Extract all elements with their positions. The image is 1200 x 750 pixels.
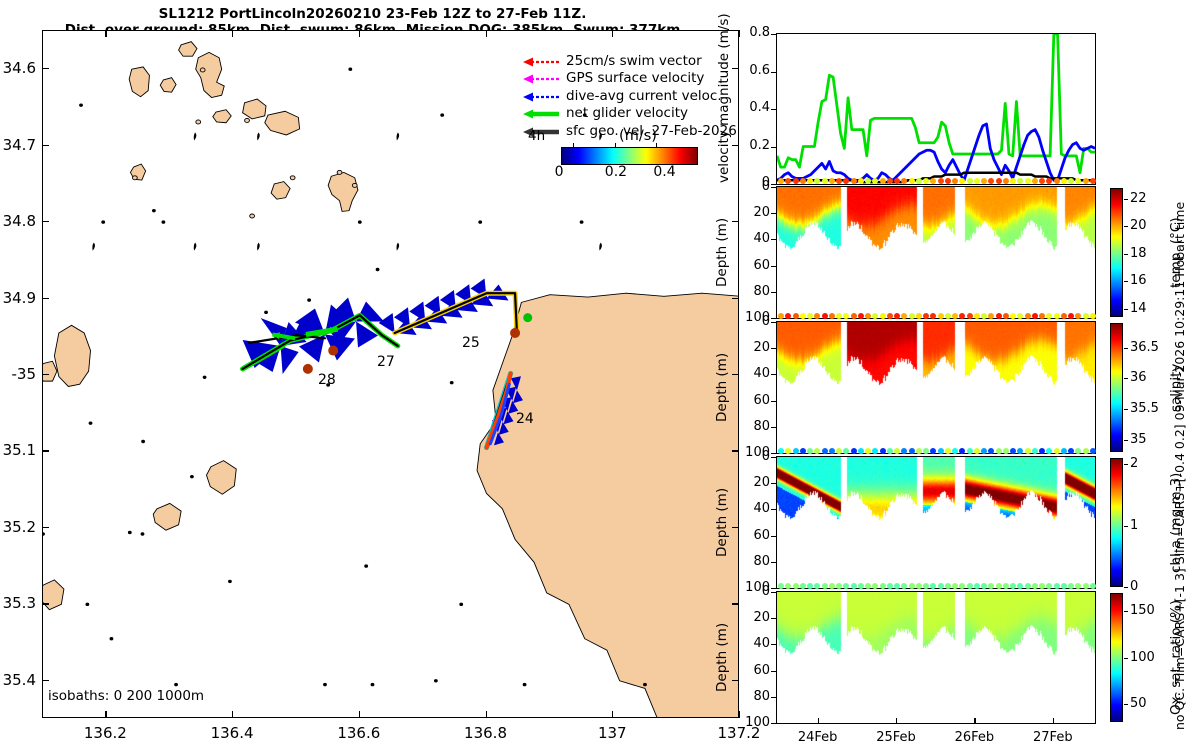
map-xtick-label: 136.2 (65, 724, 145, 742)
surface-dot (1003, 448, 1009, 454)
surface-dot (800, 448, 806, 454)
chlorophyll-section-colorbar-title: chl-a (mg m-3) (1168, 458, 1184, 587)
chlorophyll-section-ytick-label: 80 (738, 554, 770, 569)
time-axis-tick (1053, 718, 1054, 724)
surface-dot (1075, 448, 1081, 454)
oxygen-saturation-section-ytick (771, 723, 776, 724)
surface-dot (959, 178, 965, 184)
chlorophyll-section-ytick-label: 60 (738, 528, 770, 543)
surface-dot (967, 583, 973, 589)
surface-dot (909, 313, 915, 319)
surface-dot (851, 448, 857, 454)
surface-dot (1010, 448, 1016, 454)
map-ytick-label: 34.6 (0, 59, 36, 77)
temperature-section-ytick (771, 292, 776, 293)
surface-dot (1061, 313, 1067, 319)
surface-dot (945, 448, 951, 454)
arrow-left-icon (521, 106, 561, 120)
salinity-section-colorbar-tick (1124, 409, 1128, 410)
temperature-section-canvas (777, 187, 1095, 318)
oxygen-saturation-section-ytick (771, 644, 776, 645)
surface-dot (1025, 448, 1031, 454)
surface-dot (930, 583, 936, 589)
surface-dot (974, 178, 980, 184)
surface-dot (909, 178, 915, 184)
surface-dot (930, 313, 936, 319)
surface-dot (1083, 178, 1089, 184)
oxygen-saturation-section-ytick (771, 671, 776, 672)
chlorophyll-section-colorbar-tick (1124, 464, 1128, 465)
surface-dot (843, 448, 849, 454)
map-ytick-label: 34.9 (0, 289, 36, 307)
chlorophyll-section-canvas (777, 457, 1095, 588)
surface-dot (851, 178, 857, 184)
surface-dot (785, 583, 791, 589)
surface-dot (1025, 313, 1031, 319)
temperature-section-colorbar-tick-label: 16 (1130, 273, 1147, 288)
salinity-section-ytick-label: 20 (738, 340, 770, 355)
surface-dot (778, 583, 784, 589)
time-axis-tick (818, 718, 819, 724)
surface-dot (1039, 178, 1045, 184)
oxygen-saturation-section-ytick-label: 100 (738, 715, 770, 730)
surface-dot (1083, 313, 1089, 319)
surface-dot (887, 448, 893, 454)
surface-dot (1090, 583, 1096, 589)
surface-dot (1075, 583, 1081, 589)
surface-dot (829, 178, 835, 184)
surface-dot (1068, 448, 1074, 454)
map-xtick-label: 136.8 (446, 724, 526, 742)
surface-dot (793, 448, 799, 454)
surface-dot (894, 583, 900, 589)
velocity-magnitude-panel[interactable] (776, 33, 1096, 185)
surface-dot (1010, 583, 1016, 589)
chlorophyll-section-axis-title: Depth (m) (714, 462, 730, 583)
temperature-section-ytick-label: 20 (738, 205, 770, 220)
oxygen-saturation-section-colorbar-title: Ox. sat. ratio (%) (1168, 593, 1184, 722)
surface-dot (959, 448, 965, 454)
legend-entry-0: 25cm/s swim vector (521, 52, 737, 70)
salinity-section-colorbar-tick (1124, 440, 1128, 441)
surface-dot (872, 313, 878, 319)
temperature-section-axis-title: Depth (m) (714, 192, 730, 313)
temperature-section-ytick-label: 0 (738, 179, 770, 194)
surface-dot (894, 448, 900, 454)
legend-colorbar-tick (656, 143, 657, 148)
surface-dot (996, 313, 1002, 319)
temperature-section-colorbar-tick (1124, 254, 1128, 255)
surface-dot (843, 583, 849, 589)
velocity-ytick (771, 109, 776, 110)
surface-dot (1061, 178, 1067, 184)
salinity-section-panel[interactable] (776, 321, 1096, 454)
chlorophyll-section-ytick (771, 536, 776, 537)
surface-dot (814, 583, 820, 589)
surface-dot (923, 178, 929, 184)
surface-dot (1061, 448, 1067, 454)
surface-dot (952, 448, 958, 454)
surface-dot (858, 313, 864, 319)
legend-colorbar-tick-label: 0.4 (653, 164, 675, 180)
surface-dot (1025, 178, 1031, 184)
salinity-section-colorbar-tick-label: 36.5 (1130, 340, 1159, 355)
oxygen-saturation-section-surface-dots (776, 581, 1096, 591)
chlorophyll-section-ytick (771, 457, 776, 458)
velocity-ytick-label: 0.8 (738, 25, 770, 40)
oxygen-saturation-section-colorbar-tick (1124, 658, 1128, 659)
velocity-ytick (771, 147, 776, 148)
map-legend: 25cm/s swim vectorGPS surface velocitydi… (521, 52, 737, 140)
legend-entry-1: GPS surface velocity (521, 70, 737, 88)
surface-dot (988, 583, 994, 589)
surface-dot (959, 313, 965, 319)
salinity-section-canvas (777, 322, 1095, 453)
surface-dot (909, 583, 915, 589)
salinity-section-colorbar-tick (1124, 348, 1128, 349)
map-xtick-label: 136.6 (319, 724, 399, 742)
surface-dot (923, 448, 929, 454)
velocity-ytick-label: 0.2 (738, 138, 770, 153)
oxygen-saturation-section-axis-title: Depth (m) (714, 597, 730, 718)
chlorophyll-section-ytick (771, 562, 776, 563)
map-xtick-label: 137 (572, 724, 652, 742)
chlorophyll-section-ytick-label: 0 (738, 449, 770, 464)
surface-dot (814, 178, 820, 184)
temperature-section-colorbar-tick-label: 20 (1130, 218, 1147, 233)
surface-dot (887, 313, 893, 319)
time-axis-label: 24Feb (788, 730, 848, 745)
surface-dot (1068, 313, 1074, 319)
surface-dot (967, 313, 973, 319)
surface-dot (894, 178, 900, 184)
surface-dot (872, 448, 878, 454)
oxygen-saturation-section-colorbar-tick-label: 50 (1130, 696, 1147, 711)
surface-dot (778, 313, 784, 319)
salinity-section-colorbar-tick (1124, 378, 1128, 379)
surface-dot (807, 448, 813, 454)
map-ytick-label: 35.3 (0, 594, 36, 612)
time-axis-label: 25Feb (866, 730, 926, 745)
legend-colorbar-tick (573, 143, 574, 148)
temperature-section-ytick (771, 239, 776, 240)
isobaths-label: isobaths: 0 200 1000m (48, 688, 204, 704)
surface-dot (1075, 313, 1081, 319)
salinity-section-ytick (771, 401, 776, 402)
salinity-section-ytick-label: 40 (738, 366, 770, 381)
surface-dot (814, 313, 820, 319)
surface-dot (829, 313, 835, 319)
surface-dot (923, 583, 929, 589)
velocity-ytick (771, 72, 776, 73)
time-axis-tick (896, 718, 897, 724)
surface-dot (1061, 583, 1067, 589)
surface-dot (887, 178, 893, 184)
salinity-section-ytick-label: 0 (738, 314, 770, 329)
velocity-ytick-label: 0.6 (738, 63, 770, 78)
surface-dot (807, 583, 813, 589)
arrow-left-icon (521, 71, 561, 85)
surface-dot (996, 178, 1002, 184)
legend-time-scale: 4h (528, 128, 545, 144)
surface-dot (836, 448, 842, 454)
surface-dot (851, 313, 857, 319)
legend-colorbar (561, 147, 698, 165)
surface-dot (959, 583, 965, 589)
surface-dot (1032, 178, 1038, 184)
legend-entry-label: 25cm/s swim vector (566, 53, 702, 69)
salinity-section-colorbar-tick-label: 35 (1130, 432, 1147, 447)
map-ytick-label: 35.4 (0, 671, 36, 689)
temperature-section-ytick-label: 80 (738, 284, 770, 299)
temperature-section-panel[interactable] (776, 186, 1096, 319)
surface-dot (952, 583, 958, 589)
chlorophyll-section-ytick (771, 483, 776, 484)
temperature-section-colorbar-title: temp. (°C) (1168, 188, 1184, 317)
surface-dot (930, 178, 936, 184)
surface-dot (851, 583, 857, 589)
oxygen-saturation-section-ytick (771, 618, 776, 619)
surface-dot (894, 313, 900, 319)
temperature-section-colorbar-tick (1124, 226, 1128, 227)
surface-dot (836, 313, 842, 319)
velocity-ytick-label: 0.4 (738, 100, 770, 115)
surface-dot (858, 448, 864, 454)
surface-dot (836, 583, 842, 589)
salinity-section-surface-dots (776, 311, 1096, 321)
arrow-left-icon (521, 89, 561, 103)
surface-dot (814, 448, 820, 454)
surface-dot (829, 583, 835, 589)
surface-dot (1017, 583, 1023, 589)
surface-dot (1032, 583, 1038, 589)
legend-entry-2: dive-avg current veloc. (521, 87, 737, 105)
surface-dot (1039, 313, 1045, 319)
surface-dot (843, 178, 849, 184)
surface-dot (981, 448, 987, 454)
surface-dot (858, 583, 864, 589)
velocity-lines (777, 34, 1095, 184)
surface-dot (880, 178, 886, 184)
temperature-section-colorbar-tick (1124, 309, 1128, 310)
surface-dot (1054, 448, 1060, 454)
surface-dot (945, 178, 951, 184)
surface-dot (1068, 178, 1074, 184)
oxygen-saturation-section-colorbar (1110, 593, 1123, 722)
map-xtick-label: 136.4 (192, 724, 272, 742)
surface-dot (1017, 448, 1023, 454)
chlorophyll-section-colorbar-tick-label: 0 (1130, 579, 1138, 594)
temperature-section-ytick (771, 187, 776, 188)
surface-dot (938, 583, 944, 589)
surface-dot (793, 583, 799, 589)
surface-dot (988, 448, 994, 454)
map-ytick-label: 35.1 (0, 441, 36, 459)
oxygen-saturation-section-colorbar-tick (1124, 611, 1128, 612)
chlorophyll-section-panel[interactable] (776, 456, 1096, 589)
surface-dot (778, 178, 784, 184)
surface-dot (901, 448, 907, 454)
surface-dot (1046, 178, 1052, 184)
chlorophyll-section-colorbar-tick-label: 2 (1130, 456, 1138, 471)
surface-dot (967, 448, 973, 454)
legend-entry-3: net glider velocity (521, 105, 737, 123)
temperature-section-ytick (771, 213, 776, 214)
oxygen-saturation-section-ytick-label: 0 (738, 584, 770, 599)
oxygen-saturation-section-colorbar-tick-label: 100 (1130, 650, 1155, 665)
salinity-section-ytick-label: 60 (738, 393, 770, 408)
surface-dot (800, 583, 806, 589)
salinity-section-colorbar-tick-label: 36 (1130, 370, 1147, 385)
surface-dot (1003, 313, 1009, 319)
surface-dot (938, 448, 944, 454)
temperature-section-colorbar-tick-label: 18 (1130, 246, 1147, 261)
velocity-axis-title: velocity magnitude (m/s) (716, 35, 732, 183)
temperature-section-ytick (771, 266, 776, 267)
surface-dot (1046, 583, 1052, 589)
surface-dot (872, 583, 878, 589)
surface-dot (807, 313, 813, 319)
temperature-section-ytick-label: 40 (738, 231, 770, 246)
surface-dot (974, 583, 980, 589)
surface-dot (938, 178, 944, 184)
surface-dot (1090, 178, 1096, 184)
surface-dot (880, 448, 886, 454)
dive-number-label: 28 (318, 372, 336, 388)
surface-dot (988, 313, 994, 319)
surface-dot (952, 178, 958, 184)
surface-dot (778, 448, 784, 454)
legend-colorbar-labels: 00.20.4 (548, 164, 710, 182)
time-axis-label: 27Feb (1023, 730, 1083, 745)
salinity-section-ytick (771, 374, 776, 375)
oxygen-saturation-section-ytick (771, 697, 776, 698)
surface-dot (865, 583, 871, 589)
oxygen-saturation-section-colorbar-tick (1124, 704, 1128, 705)
legend-colorbar-tick-label: 0 (555, 164, 564, 180)
surface-dot (981, 583, 987, 589)
surface-dot (988, 178, 994, 184)
surface-dot (901, 178, 907, 184)
salinity-section-axis-title: Depth (m) (714, 327, 730, 448)
surface-dot (1010, 178, 1016, 184)
salinity-section-colorbar-tick-label: 35.5 (1130, 401, 1159, 416)
map-ytick-label: 34.8 (0, 212, 36, 230)
surface-dot (1025, 583, 1031, 589)
surface-dot (916, 178, 922, 184)
surface-dot (981, 313, 987, 319)
surface-dot (858, 178, 864, 184)
surface-dot (938, 313, 944, 319)
surface-dot (1046, 448, 1052, 454)
surface-dot (1010, 313, 1016, 319)
salinity-section-colorbar (1110, 323, 1123, 452)
temperature-section-colorbar-tick-label: 14 (1130, 301, 1147, 316)
surface-dot (1054, 178, 1060, 184)
dive-number-label: 25 (462, 335, 480, 351)
surface-dot (822, 583, 828, 589)
surface-dot (996, 448, 1002, 454)
surface-dot (916, 313, 922, 319)
temperature-section-colorbar-tick (1124, 281, 1128, 282)
oxygen-saturation-section-panel[interactable] (776, 591, 1096, 724)
surface-dot (1068, 583, 1074, 589)
time-axis-label: 26Feb (944, 730, 1004, 745)
surface-dot (923, 313, 929, 319)
surface-dot (1039, 448, 1045, 454)
legend-colorbar-tick (615, 143, 616, 148)
surface-dot (880, 313, 886, 319)
surface-dot (916, 448, 922, 454)
surface-dot (1003, 583, 1009, 589)
surface-dot (800, 178, 806, 184)
temperature-section-colorbar (1110, 188, 1123, 317)
chlorophyll-section-colorbar-tick (1124, 587, 1128, 588)
surface-dot (1054, 313, 1060, 319)
chlorophyll-section-colorbar-tick-label: 1 (1130, 518, 1138, 533)
surface-dot (785, 448, 791, 454)
surface-dot (1032, 448, 1038, 454)
surface-dot (967, 178, 973, 184)
surface-dot (793, 178, 799, 184)
surface-dot (930, 448, 936, 454)
surface-dot (1039, 583, 1045, 589)
surface-dot (800, 313, 806, 319)
title-line-1: SL1212 PortLincoln20260210 23-Feb 12Z to… (0, 6, 745, 22)
temperature-section-colorbar-tick (1124, 199, 1128, 200)
legend-colorbar-units: (m/s) (578, 128, 698, 144)
oxygen-saturation-section-ytick (771, 592, 776, 593)
surface-dot (785, 313, 791, 319)
surface-dot (1083, 583, 1089, 589)
chlorophyll-section-ytick-label: 20 (738, 475, 770, 490)
surface-dot (822, 313, 828, 319)
surface-dot (785, 178, 791, 184)
surface-dot (916, 583, 922, 589)
oxygen-saturation-section-colorbar-tick-label: 150 (1130, 603, 1155, 618)
legend-entry-label: net glider velocity (566, 105, 688, 121)
salinity-section-colorbar-title: salinity (1168, 323, 1184, 452)
temperature-section-colorbar-tick-label: 22 (1130, 191, 1147, 206)
surface-dot (1017, 313, 1023, 319)
salinity-section-ytick (771, 348, 776, 349)
temperature-section-ytick-label: 60 (738, 258, 770, 273)
chlorophyll-section-ytick (771, 509, 776, 510)
surface-dot (1075, 178, 1081, 184)
surface-dot (880, 583, 886, 589)
map-ytick-label: 34.7 (0, 136, 36, 154)
velocity-ytick (771, 34, 776, 35)
surface-dot (807, 178, 813, 184)
temperature-section-surface-dots (776, 176, 1096, 186)
surface-dot (974, 448, 980, 454)
legend-colorbar-tick-label: 0.2 (605, 164, 627, 180)
chlorophyll-section-colorbar-tick (1124, 526, 1128, 527)
chlorophyll-section-surface-dots (776, 446, 1096, 456)
surface-dot (981, 178, 987, 184)
surface-dot (952, 313, 958, 319)
oxygen-saturation-section-ytick-label: 20 (738, 610, 770, 625)
map-ytick-label: -35 (0, 365, 36, 383)
surface-dot (843, 313, 849, 319)
surface-dot (996, 583, 1002, 589)
surface-dot (836, 178, 842, 184)
salinity-section-ytick (771, 427, 776, 428)
chlorophyll-section-ytick-label: 40 (738, 501, 770, 516)
legend-entry-label: dive-avg current veloc. (566, 88, 722, 104)
surface-dot (829, 448, 835, 454)
surface-dot (1090, 448, 1096, 454)
